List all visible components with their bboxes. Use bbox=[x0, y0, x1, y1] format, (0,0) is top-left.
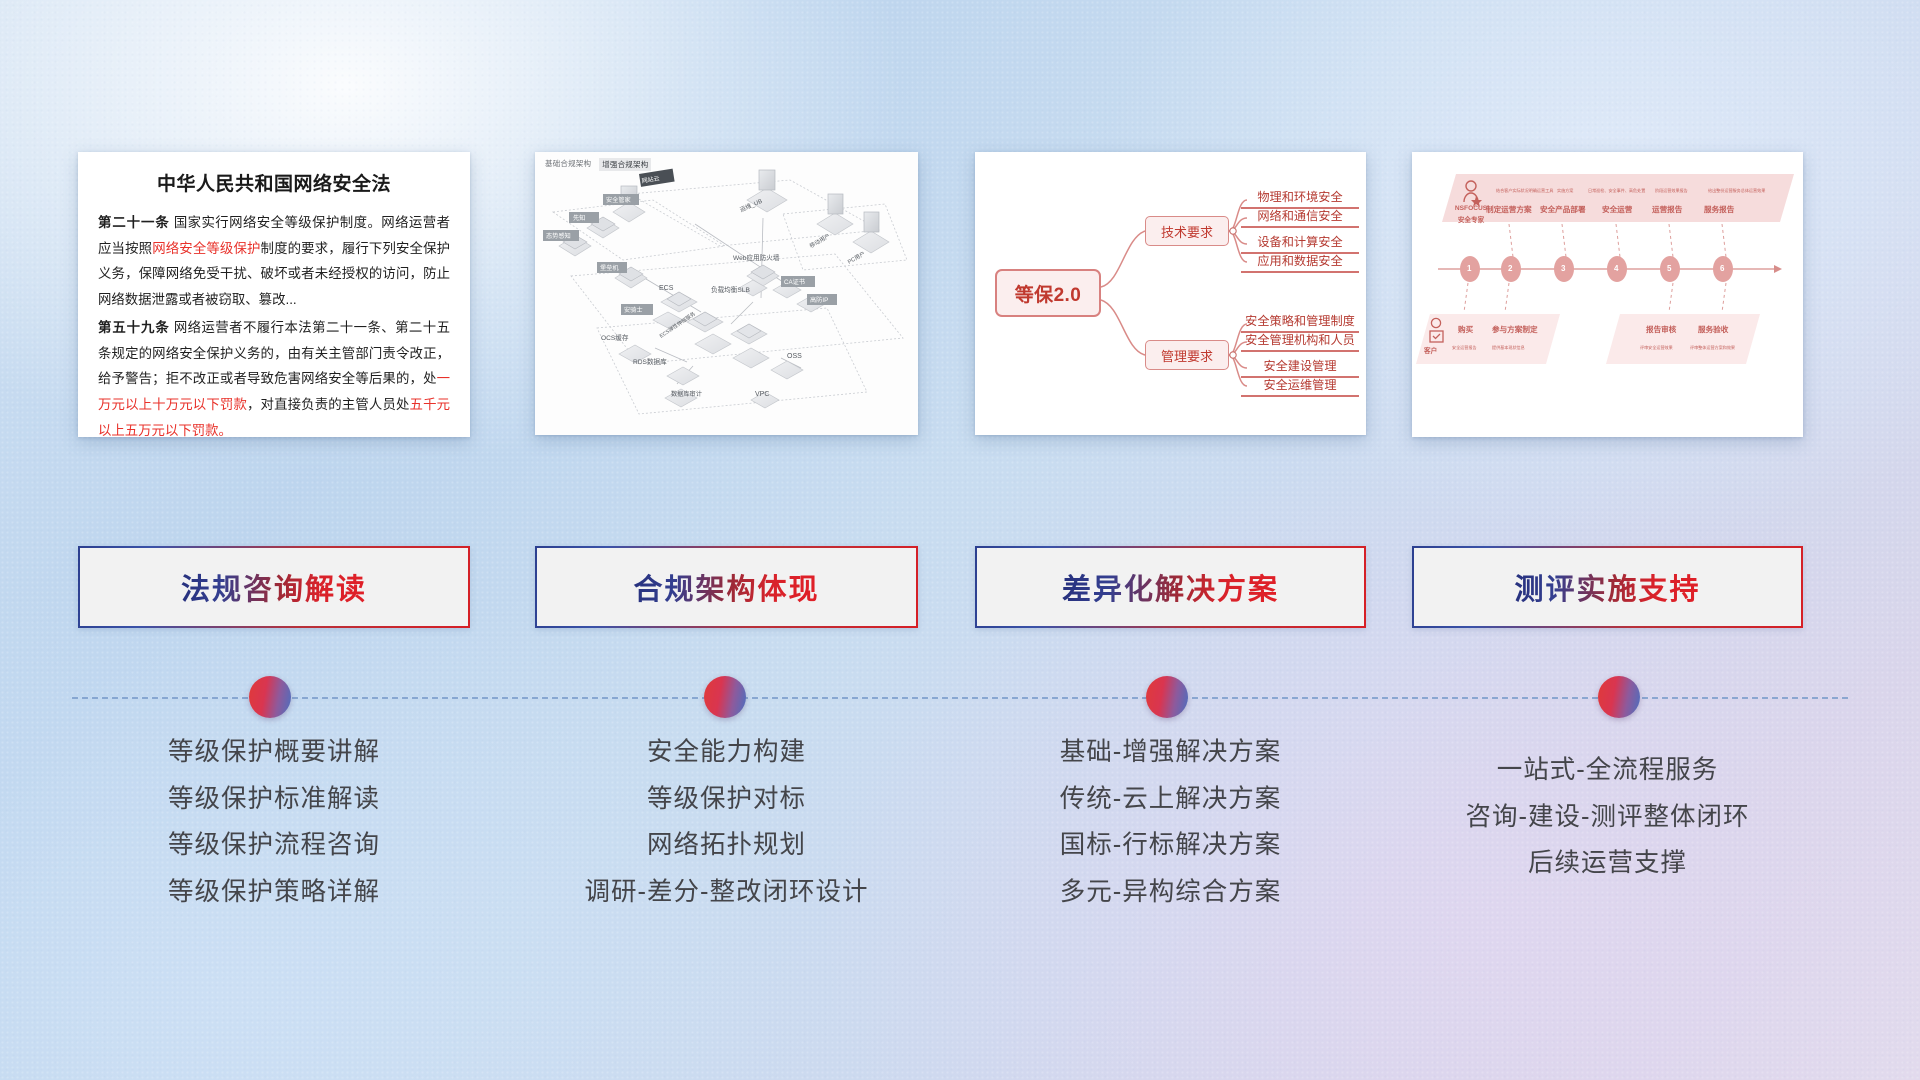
section-header-label-2: 差异化解决方案 bbox=[1062, 566, 1279, 608]
arch-label-16: 数据库审计 bbox=[671, 390, 702, 398]
flow-top-step-2-title: 安全运营 bbox=[1602, 204, 1632, 215]
flow-bottom-step-3-title: 服务验收 bbox=[1698, 324, 1728, 335]
arch-label-12: 安骑士 bbox=[624, 306, 643, 314]
mindmap: 等保2.0 技术要求 物理和环境安全 网络和通信安全 设备和计算安全 应用和数据… bbox=[975, 152, 1366, 435]
flow-role-expert-line2: 安全专家 bbox=[1449, 214, 1493, 224]
flow-top-step-3-title: 运营报告 bbox=[1652, 204, 1682, 215]
service-flow-svg bbox=[1412, 152, 1803, 437]
timeline-dot-4[interactable] bbox=[1598, 676, 1640, 718]
arch-label-2: 先知 bbox=[573, 214, 585, 222]
law-article-21-highlight: 网络安全等级保护 bbox=[152, 241, 260, 256]
arch-label-7: 高防IP bbox=[810, 296, 828, 304]
arch-label-3: 态势感知 bbox=[546, 232, 571, 240]
section-header-row: 法规咨询解读 合规架构体现 差异化解决方案 测评实施支持 bbox=[0, 546, 1920, 628]
arch-label-1: 安全管家 bbox=[606, 196, 631, 204]
mindmap-root-node[interactable]: 等保2.0 bbox=[995, 269, 1101, 317]
arch-label-18: VPC bbox=[755, 391, 769, 398]
flow-milestone-1: 1 bbox=[1467, 264, 1471, 273]
flow-milestone-2: 2 bbox=[1508, 264, 1512, 273]
list-item: 咨询-建设-测评整体闭环 bbox=[1412, 805, 1803, 831]
list-item: 国标-行标解决方案 bbox=[975, 833, 1366, 859]
arch-label-6: CA证书 bbox=[784, 278, 805, 286]
detail-list-assessment-support: 一站式-全流程服务 咨询-建设-测评整体闭环 后续运营支撑 bbox=[1412, 758, 1803, 898]
flow-bottom-step-2-title: 报告审核 bbox=[1646, 324, 1676, 335]
list-item: 等级保护对标 bbox=[535, 787, 918, 813]
flow-bottom-step-2-sub: 评审安全运营效果 bbox=[1640, 345, 1673, 351]
mindmap-leaf-tech-1: 网络和通信安全 bbox=[1241, 203, 1359, 228]
arch-label-15: RDS数据库 bbox=[633, 357, 667, 366]
detail-list-regulation-consulting: 等级保护概要讲解 等级保护标准解读 等级保护流程咨询 等级保护策略详解 bbox=[78, 740, 470, 926]
section-header-label-1: 合规架构体现 bbox=[633, 566, 819, 608]
flow-bottom-step-1-title: 参与方案制定 bbox=[1492, 324, 1538, 335]
timeline-dashed-line bbox=[72, 697, 1848, 699]
timeline-dot-1[interactable] bbox=[249, 676, 291, 718]
law-title: 中华人民共和国网络安全法 bbox=[98, 169, 450, 196]
law-text: 第二十一条 国家实行网络安全等级保护制度。网络运营者应当按照网络安全等级保护制度… bbox=[98, 210, 450, 437]
timeline-connector bbox=[0, 666, 1920, 730]
list-item: 基础-增强解决方案 bbox=[975, 740, 1366, 766]
architecture-diagram-svg: 网站云 安全管家 先知 态势感知 堡垒机 CA证书 高防IP 安骑士 Web应用… bbox=[535, 152, 918, 435]
law-article-59: 第五十九条 网络运营者不履行本法第二十一条、第二十五条规定的网络安全保护义务的，… bbox=[98, 315, 450, 437]
arch-label-9: 移动用户 bbox=[808, 232, 831, 250]
arch-label-13: 负载均衡SLB bbox=[711, 285, 750, 294]
section-header-regulation-consulting[interactable]: 法规咨询解读 bbox=[78, 546, 470, 628]
arch-label-10: PC用户 bbox=[846, 249, 866, 265]
detail-list-compliance-architecture: 安全能力构建 等级保护对标 网络拓扑规划 调研-差分-整改闭环设计 bbox=[535, 740, 918, 926]
flow-top-step-3-sub: 阶段运营效果报告 bbox=[1655, 188, 1688, 194]
law-article-21-label: 第二十一条 bbox=[98, 215, 170, 230]
flow-top-step-4-title: 服务报告 bbox=[1704, 204, 1734, 215]
mindmap-branch-management[interactable]: 管理要求 bbox=[1145, 340, 1229, 370]
card-cloud-architecture: 基础合规架构 增强合规架构 bbox=[535, 152, 918, 435]
list-item: 安全能力构建 bbox=[535, 740, 918, 766]
mindmap-leaf-tech-3: 应用和数据安全 bbox=[1241, 248, 1359, 273]
mindmap-leaf-mgmt-1: 安全管理机构和人员 bbox=[1241, 327, 1359, 352]
list-item: 等级保护概要讲解 bbox=[78, 740, 470, 766]
illustration-card-row: 中华人民共和国网络安全法 第二十一条 国家实行网络安全等级保护制度。网络运营者应… bbox=[0, 152, 1920, 437]
arch-label-11: ECS bbox=[659, 285, 674, 292]
flow-bottom-step-1-sub: 提供基本现状信息 bbox=[1492, 345, 1525, 351]
flow-role-customer: 客户 bbox=[1424, 345, 1437, 355]
section-detail-lists: 等级保护概要讲解 等级保护标准解读 等级保护流程咨询 等级保护策略详解 安全能力… bbox=[0, 740, 1920, 960]
list-item: 传统-云上解决方案 bbox=[975, 787, 1366, 813]
mindmap-branch-technical[interactable]: 技术要求 bbox=[1145, 216, 1229, 246]
list-item: 多元-异构综合方案 bbox=[975, 880, 1366, 906]
section-header-assessment-support[interactable]: 测评实施支持 bbox=[1412, 546, 1803, 628]
section-header-differentiated-solutions[interactable]: 差异化解决方案 bbox=[975, 546, 1366, 628]
section-header-label-0: 法规咨询解读 bbox=[181, 566, 367, 608]
flow-top-step-2-sub: 日常巡检、安全事件、高危处置 bbox=[1588, 188, 1645, 194]
list-item: 一站式-全流程服务 bbox=[1412, 758, 1803, 784]
flow-milestone-5: 5 bbox=[1667, 264, 1671, 273]
flow-top-step-0-title: 制定运营方案 bbox=[1486, 204, 1532, 215]
service-flow-diagram: NSFOCUS 安全专家 客户 制定运营方案 安全产品部署 安全运营 运营报告 … bbox=[1412, 152, 1803, 437]
list-item: 等级保护策略详解 bbox=[78, 880, 470, 906]
timeline-dot-3[interactable] bbox=[1146, 676, 1188, 718]
arch-label-5: Web应用防火墙 bbox=[733, 253, 780, 262]
arch-label-4: 堡垒机 bbox=[600, 264, 619, 272]
law-article-59-text-b: ，对直接负责的主管人员处 bbox=[247, 397, 410, 412]
flow-top-step-0-sub: 结合客户实际状况明确运营工具 bbox=[1496, 188, 1553, 194]
arch-label-14: OCS缓存 bbox=[601, 333, 629, 342]
flow-top-step-4-sub: 给出整份运营服务总体运营效果 bbox=[1708, 188, 1765, 194]
list-item: 等级保护标准解读 bbox=[78, 787, 470, 813]
arch-label-17: OSS bbox=[787, 353, 802, 360]
list-item: 调研-差分-整改闭环设计 bbox=[535, 880, 918, 906]
card-mindmap-dengbao: 等保2.0 技术要求 物理和环境安全 网络和通信安全 设备和计算安全 应用和数据… bbox=[975, 152, 1366, 435]
flow-bottom-step-3-sub: 评审整体运营方案和效果 bbox=[1690, 345, 1735, 351]
list-item: 等级保护流程咨询 bbox=[78, 833, 470, 859]
flow-milestone-4: 4 bbox=[1614, 264, 1618, 273]
flow-milestone-3: 3 bbox=[1561, 264, 1565, 273]
timeline-dot-2[interactable] bbox=[704, 676, 746, 718]
mindmap-leaf-mgmt-3: 安全运维管理 bbox=[1241, 372, 1359, 397]
flow-top-step-1-title: 安全产品部署 bbox=[1540, 204, 1586, 215]
section-header-label-3: 测评实施支持 bbox=[1514, 566, 1700, 608]
list-item: 网络拓扑规划 bbox=[535, 833, 918, 859]
list-item: 后续运营支撑 bbox=[1412, 851, 1803, 877]
law-article-21: 第二十一条 国家实行网络安全等级保护制度。网络运营者应当按照网络安全等级保护制度… bbox=[98, 210, 450, 313]
section-header-compliance-architecture[interactable]: 合规架构体现 bbox=[535, 546, 918, 628]
law-card-body: 中华人民共和国网络安全法 第二十一条 国家实行网络安全等级保护制度。网络运营者应… bbox=[78, 152, 470, 437]
architecture-diagram: 基础合规架构 增强合规架构 bbox=[535, 152, 918, 435]
law-article-59-label: 第五十九条 bbox=[98, 320, 170, 335]
flow-bottom-step-0-sub: 安全运营报告 bbox=[1452, 345, 1477, 351]
detail-list-differentiated-solutions: 基础-增强解决方案 传统-云上解决方案 国标-行标解决方案 多元-异构综合方案 bbox=[975, 740, 1366, 926]
card-service-flow: NSFOCUS 安全专家 客户 制定运营方案 安全产品部署 安全运营 运营报告 … bbox=[1412, 152, 1803, 437]
flow-milestone-6: 6 bbox=[1720, 264, 1724, 273]
card-cybersecurity-law: 中华人民共和国网络安全法 第二十一条 国家实行网络安全等级保护制度。网络运营者应… bbox=[78, 152, 470, 437]
flow-top-step-1-sub: 实施方案 bbox=[1557, 188, 1573, 194]
flow-bottom-step-0-title: 购买 bbox=[1458, 324, 1473, 335]
